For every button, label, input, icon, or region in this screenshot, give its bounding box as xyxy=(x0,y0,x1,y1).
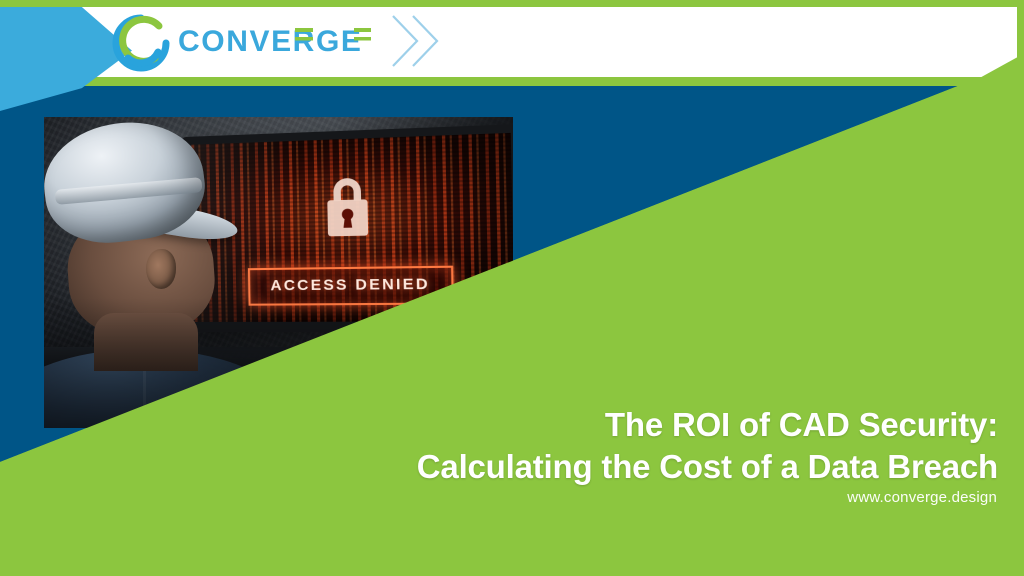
monitor-stand-base xyxy=(300,357,392,369)
chevron-right-outline-2 xyxy=(408,12,442,70)
hero-photo: ACCESS DENIED xyxy=(44,117,513,428)
page-title: The ROI of CAD Security: Calculating the… xyxy=(218,404,998,488)
svg-text:CONVERGE: CONVERGE xyxy=(178,25,363,58)
slide-canvas: ACCESS DENIED xyxy=(0,0,1024,576)
logo-wordmark: CONVERGE xyxy=(178,22,374,62)
worker-ear xyxy=(146,249,176,289)
converge-ring-logo xyxy=(112,14,170,72)
header-banner: CONVERGE xyxy=(0,0,1024,86)
title-line-2: Calculating the Cost of a Data Breach xyxy=(218,446,998,488)
worker-figure xyxy=(44,117,254,428)
title-line-1: The ROI of CAD Security: xyxy=(605,406,998,443)
worker-neck xyxy=(94,313,198,371)
website-url: www.converge.design xyxy=(847,489,997,506)
